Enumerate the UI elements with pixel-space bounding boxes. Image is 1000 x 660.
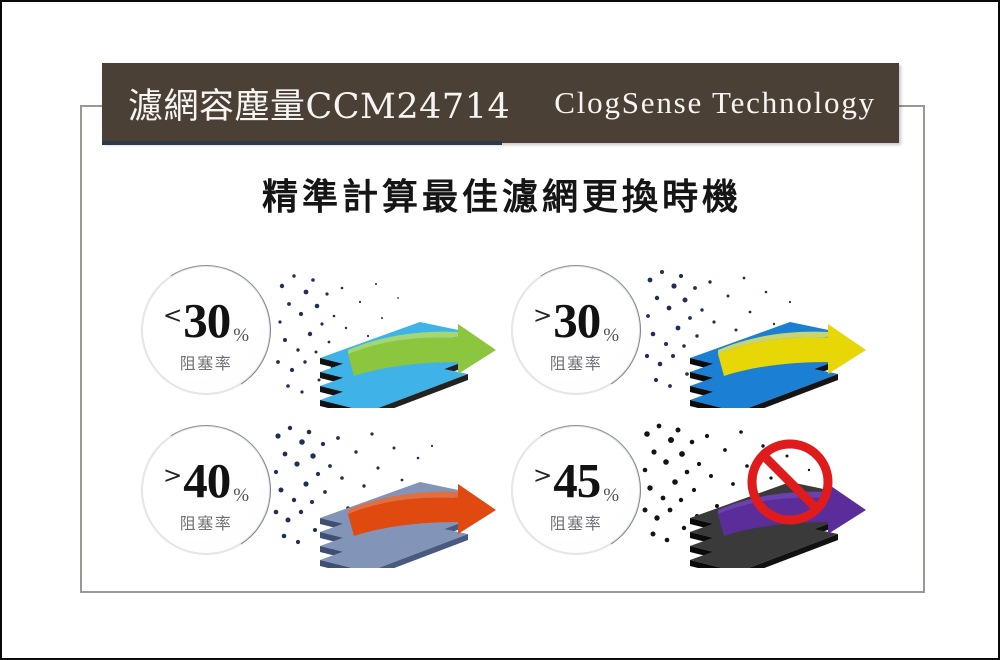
clog-rate-badge: >40% 阻塞率 bbox=[142, 426, 270, 554]
clog-rate-value-row: >45% bbox=[512, 456, 640, 505]
filter-illustration bbox=[272, 258, 512, 408]
clog-rate-value-row: >30% bbox=[512, 296, 640, 345]
comparison-operator: > bbox=[163, 463, 182, 489]
filter-illustration bbox=[642, 418, 882, 568]
percent-sign: % bbox=[603, 325, 619, 346]
page-subtitle: 精準計算最佳濾網更換時機 bbox=[2, 168, 1000, 220]
banner-title-chinese: 濾網容塵量CCM24714 bbox=[128, 78, 510, 129]
clog-rate-caption: 阻塞率 bbox=[142, 510, 270, 534]
infographic-page: 濾網容塵量CCM24714 ClogSense Technology 精準計算最… bbox=[0, 0, 1000, 660]
clog-level-cell: >45% 阻塞率 bbox=[512, 418, 882, 568]
percent-sign: % bbox=[233, 325, 249, 346]
comparison-operator: > bbox=[533, 303, 552, 329]
banner-title-english: ClogSense Technology bbox=[554, 85, 876, 121]
clog-rate-value-row: <30% bbox=[142, 296, 270, 345]
filter-stack-svg bbox=[642, 258, 882, 408]
header-banner: 濾網容塵量CCM24714 ClogSense Technology bbox=[102, 63, 899, 143]
clog-rate-number: 45 bbox=[553, 453, 600, 508]
clog-rate-badge: <30% 阻塞率 bbox=[142, 266, 270, 394]
clog-rate-caption: 阻塞率 bbox=[512, 350, 640, 374]
filter-stack-svg bbox=[642, 418, 882, 568]
clog-level-cell: >40% 阻塞率 bbox=[142, 418, 512, 568]
clog-rate-number: 30 bbox=[183, 293, 230, 348]
clog-level-cell: >30% 阻塞率 bbox=[512, 258, 882, 408]
clog-level-cell: <30% 阻塞率 bbox=[142, 258, 512, 408]
clog-rate-value-row: >40% bbox=[142, 456, 270, 505]
clog-rate-badge: >45% 阻塞率 bbox=[512, 426, 640, 554]
comparison-operator: < bbox=[163, 303, 182, 329]
clog-rate-caption: 阻塞率 bbox=[512, 510, 640, 534]
percent-sign: % bbox=[603, 485, 619, 506]
clog-rate-number: 40 bbox=[183, 453, 230, 508]
clog-rate-caption: 阻塞率 bbox=[142, 350, 270, 374]
filter-stack-svg bbox=[272, 418, 512, 568]
filter-illustration bbox=[642, 258, 882, 408]
percent-sign: % bbox=[233, 485, 249, 506]
clog-rate-badge: >30% 阻塞率 bbox=[512, 266, 640, 394]
comparison-operator: > bbox=[533, 463, 552, 489]
banner-underline bbox=[102, 141, 502, 145]
filter-stack-svg bbox=[272, 258, 512, 408]
filter-illustration bbox=[272, 418, 512, 568]
clog-rate-number: 30 bbox=[553, 293, 600, 348]
clog-level-grid: <30% 阻塞率 bbox=[2, 250, 1000, 560]
